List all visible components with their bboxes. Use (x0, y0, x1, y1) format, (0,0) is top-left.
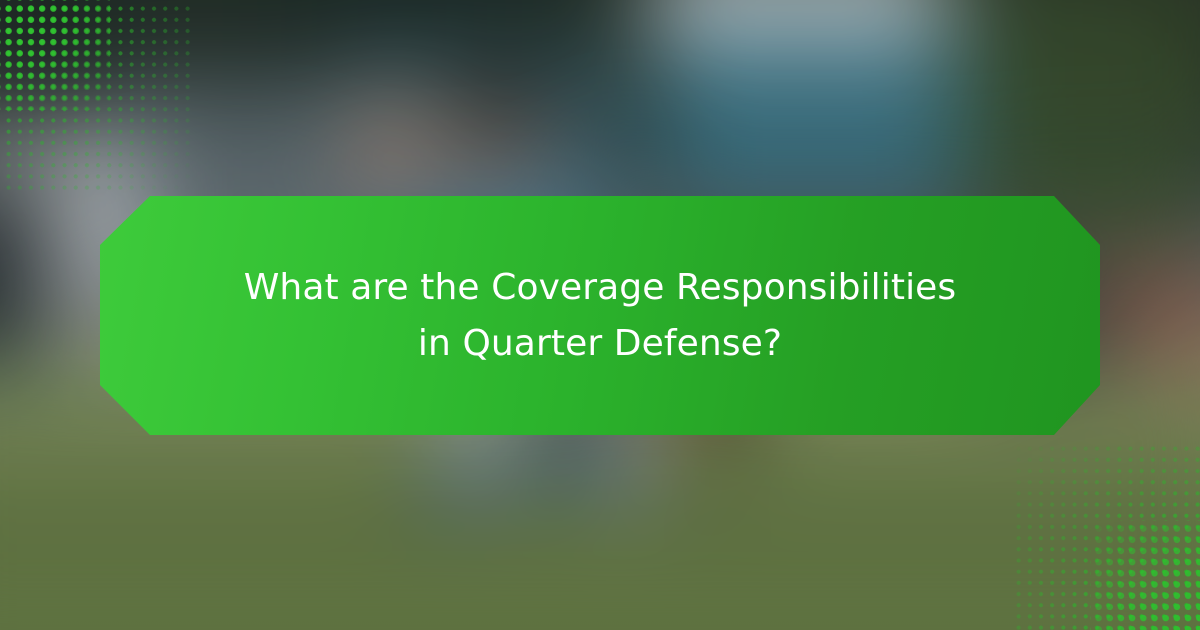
social-share-card: What are the Coverage Responsibilities i… (0, 0, 1200, 630)
title-banner: What are the Coverage Responsibilities i… (100, 196, 1100, 435)
page-title: What are the Coverage Responsibilities i… (190, 260, 1010, 372)
